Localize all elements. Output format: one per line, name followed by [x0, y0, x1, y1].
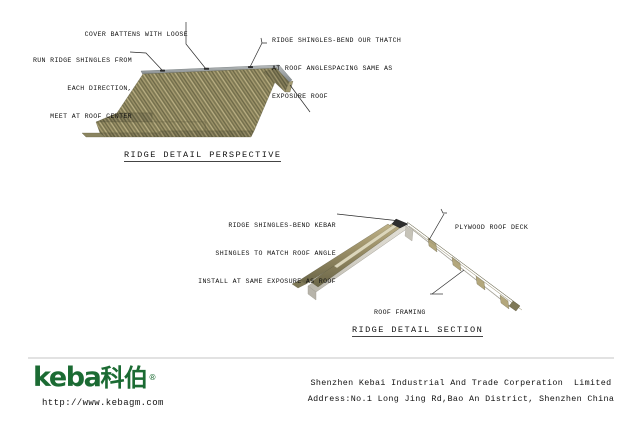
annotation-line: ROOF FRAMING [374, 308, 484, 317]
registered-trademark-icon: ® [149, 373, 157, 382]
drawing-page: COVER BATTENS WITH LOOSE RUN RIDGE SHING… [0, 0, 637, 433]
annotation-line: INSTALL AT SAME EXPOSURE AS ROOF [186, 277, 336, 286]
company-name: Shenzhen Kebai Industrial And Trade Corp… [296, 375, 626, 391]
annotation-line: PLYWOOD ROOF DECK [455, 223, 595, 232]
company-address-block: Shenzhen Kebai Industrial And Trade Corp… [296, 375, 626, 407]
annotation-line: EACH DIRECTION, [10, 84, 132, 93]
footer-divider [28, 357, 614, 359]
drawing-title-section: RIDGE DETAIL SECTION [352, 325, 483, 337]
company-website-url: http://www.kebagm.com [42, 398, 263, 408]
annotation-line: SHINGLES TO MATCH ROOF ANGLE [186, 249, 336, 258]
annotation-ridge-shingles-thatch: RIDGE SHINGLES-BEND OUR THATCH AT ROOF A… [272, 18, 432, 119]
section-ridge-peak [392, 219, 408, 228]
leader-ridge-shingles-thatch [250, 43, 262, 67]
annotation-line: AT ROOF ANGLESPACING SAME AS [272, 64, 432, 73]
annotation-line: RIDGE SHINGLES-BEND KEBAR [186, 221, 336, 230]
logo-wordmark: keba [33, 363, 101, 393]
ridge-cap-band [141, 65, 281, 75]
annotation-plywood-roof-deck: PLYWOOD ROOF DECK [455, 205, 595, 251]
drawing-title-perspective: RIDGE DETAIL PERSPECTIVE [124, 150, 281, 162]
leader-plywood-tick [441, 209, 447, 213]
annotation-line: EXPOSURE ROOF [272, 92, 432, 101]
leader-ridge-shingles-thatch-tick [261, 38, 267, 43]
main-thatch-plane [117, 68, 281, 131]
ridge-batten-fasteners [160, 66, 253, 72]
section-leader-lines [337, 209, 464, 294]
logo-chinese-name: 科伯 [101, 363, 148, 393]
leader-plywood-roof-deck [429, 214, 444, 240]
leader-cover-battens [186, 22, 206, 69]
leader-ridge-shingles-kebar [337, 214, 400, 221]
annotation-line: RUN RIDGE SHINGLES FROM [10, 56, 132, 65]
company-logo: keba科伯® http://www.kebagm.com [33, 363, 263, 419]
logo-lockup: keba科伯® [33, 363, 263, 393]
annotation-line: RIDGE SHINGLES-BEND OUR THATCH [272, 36, 432, 45]
company-address: Address:No.1 Long Jing Rd,Bao An Distric… [296, 391, 626, 407]
annotation-run-ridge-shingles: RUN RIDGE SHINGLES FROM EACH DIRECTION, … [10, 38, 132, 139]
annotation-line: MEET AT ROOF CENTER [10, 112, 132, 121]
annotation-ridge-shingles-kebar: RIDGE SHINGLES-BEND KEBAR SHINGLES TO MA… [186, 203, 336, 304]
